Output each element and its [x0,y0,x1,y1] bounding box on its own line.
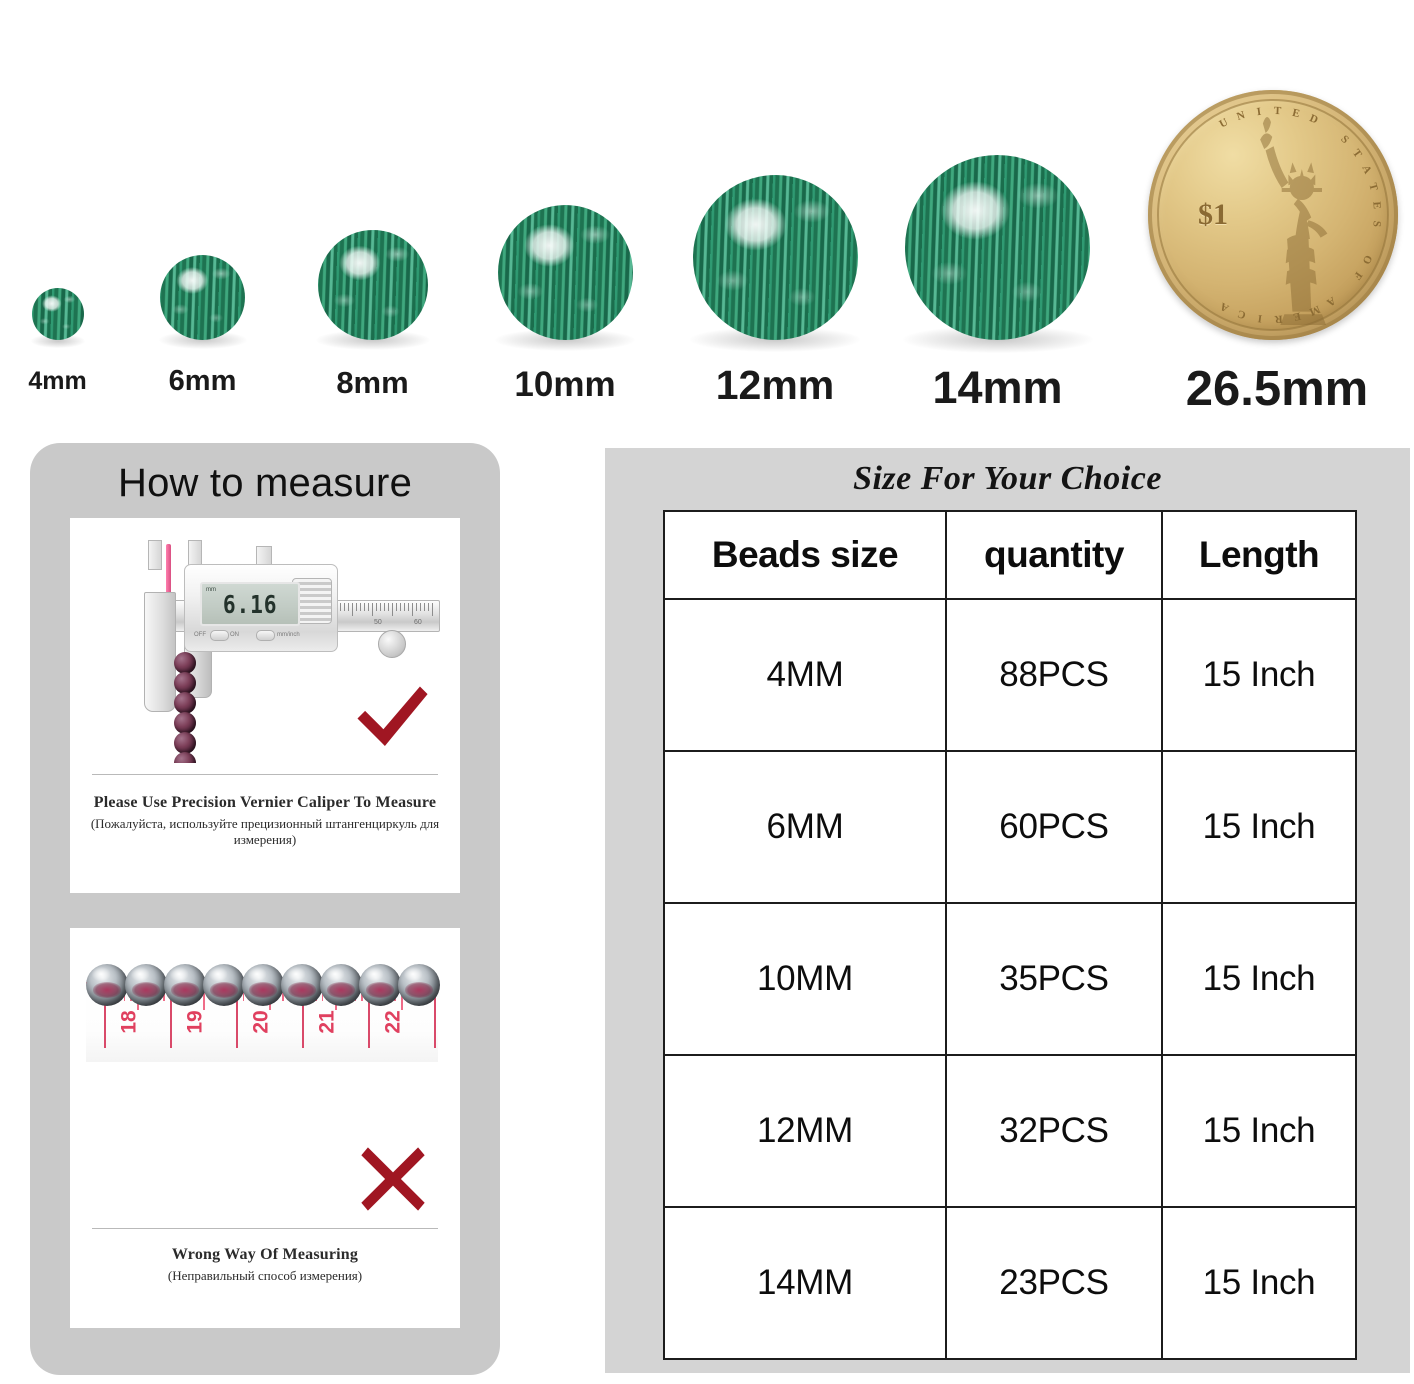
size-cell: 10MM [664,903,946,1055]
size-table-body: 4MM88PCS15 Inch6MM60PCS15 Inch10MM35PCS1… [664,599,1356,1359]
caliper-scale-tick [356,603,357,611]
malachite-bead [32,288,84,340]
malachite-bead [905,155,1090,340]
caliper-scale-tick [396,603,397,611]
bead-size-label: 6mm [169,367,237,396]
caliper-reading-value: 6.16 [223,590,278,619]
coin-sample-26-5mm: UNITEDSTATESOFAMERICA $1 [1148,90,1406,340]
table-row: 6MM60PCS15 Inch [664,751,1356,903]
cross-icon [360,1146,426,1212]
caliper-scale-tick [340,603,341,611]
tape-measure-photo: 1819202122 [70,928,460,1218]
caliper-scale-tick [352,603,353,616]
wrong-caption-ru: (Неправильный способ измерения) [70,1268,460,1284]
bead-size-label: 10mm [514,367,615,402]
measured-bead-strand [174,652,196,763]
caliper-zero-button[interactable] [256,630,275,641]
length-cell: 15 Inch [1162,1207,1356,1359]
garnet-bead [174,712,196,734]
caliper-scale-tick [428,603,429,611]
length-cell: 15 Inch [1162,751,1356,903]
caliper-scale-tick [364,603,365,611]
check-icon [352,685,430,749]
tape-measure-illustration: 1819202122 [86,946,446,1096]
table-row: 4MM88PCS15 Inch [664,599,1356,751]
tape-number: 21 [316,1010,340,1033]
caliper-upper-jaw-fixed [148,540,162,570]
caliper-scale-tick [424,603,425,611]
bead-size-label: 8mm [336,367,408,398]
caliper-scale-tick [412,603,413,616]
steel-bead [203,964,245,1006]
bead-sample-10mm: 10mm [485,205,645,340]
wrong-caption-en: Wrong Way Of Measuring [70,1246,460,1264]
tape-number: 19 [184,1010,208,1033]
table-row: 14MM23PCS15 Inch [664,1207,1356,1359]
size-cell: 4MM [664,599,946,751]
caliper-scale-tick [392,603,393,616]
bead-sample-12mm: 12mm [685,175,865,340]
bead-size-label: 14mm [932,365,1062,410]
bead-size-comparison-strip: 4mm 6mm 8mm 10mm 12mm 14mm UNITEDSTATESO… [0,0,1414,400]
malachite-bead [498,205,633,340]
bead-size-label: 4mm [28,369,86,394]
tape-number: 18 [118,1010,142,1033]
length-cell: 15 Inch [1162,599,1356,751]
size-table-title: Size For Your Choice [605,448,1410,498]
bead-sample-14mm: 14mm [900,155,1095,340]
caption-divider [92,1228,438,1229]
malachite-bead [318,230,428,340]
caliper-scale-number: 50 [374,619,382,626]
caliper-lock-screw [256,546,272,566]
correct-caption-ru: (Пожалуйста, используйте прецизионный шт… [70,816,460,848]
garnet-bead [174,732,196,754]
correct-caption: Please Use Precision Vernier Caliper To … [70,794,460,848]
caliper-fixed-jaw [144,592,176,712]
steel-bead [125,964,167,1006]
quantity-cell: 88PCS [946,599,1162,751]
statue-of-liberty-icon [1228,110,1373,325]
bead-size-label: 12mm [716,365,835,406]
correct-caption-en: Please Use Precision Vernier Caliper To … [70,794,460,812]
steel-bead [164,964,206,1006]
caliper-scale-tick [348,603,349,611]
caliper-scale-tick [380,603,381,611]
steel-bead [398,964,440,1006]
bead-sample-4mm: 4mm [5,288,110,340]
caliper-scale-tick [420,603,421,611]
caliper-scale-tick [400,603,401,611]
wrong-method-card: 1819202122 Wrong Way Of Measuring (Непра… [70,928,460,1328]
malachite-bead [693,175,858,340]
steel-bead [320,964,362,1006]
quantity-cell: 32PCS [946,1055,1162,1207]
quantity-cell: 60PCS [946,751,1162,903]
steel-bead [281,964,323,1006]
coin-size-label: 26.5mm [1186,365,1369,414]
table-row: 12MM32PCS15 Inch [664,1055,1356,1207]
caliper-unit-label: mm [206,587,216,593]
size-table-panel: Size For Your Choice Beads size quantity… [605,448,1410,1373]
caliper-photo: 05060 mm 6.16 OFF ON mm/inch [70,518,460,763]
us-dollar-coin: UNITEDSTATESOFAMERICA $1 [1148,90,1398,340]
caliper-thumb-wheel[interactable] [378,630,406,658]
caliper-lcd-display: mm 6.16 [200,582,300,626]
column-header-quantity: quantity [946,511,1162,599]
tape-number: 20 [250,1010,274,1033]
how-to-measure-panel: How to measure 05060 mm 6.16 [30,443,500,1375]
table-row: 10MM35PCS15 Inch [664,903,1356,1055]
quantity-cell: 35PCS [946,903,1162,1055]
table-header-row: Beads size quantity Length [664,511,1356,599]
tape-number: 22 [382,1010,406,1033]
caliper-scale-tick [388,603,389,611]
garnet-bead [174,692,196,714]
caliper-scale-tick [404,603,405,611]
malachite-bead [160,255,245,340]
caliper-scale-tick [376,603,377,611]
bead-sample-8mm: 8mm [305,230,440,340]
steel-bead [86,964,128,1006]
correct-method-card: 05060 mm 6.16 OFF ON mm/inch [70,518,460,893]
steel-bead [242,964,284,1006]
caliper-scale-tick [372,603,373,616]
length-cell: 15 Inch [1162,1055,1356,1207]
coin-denomination: $1 [1198,198,1228,232]
caliper-unit-toggle-label: mm/inch [277,632,300,638]
bead-sample-6mm: 6mm [140,255,265,340]
length-cell: 15 Inch [1162,903,1356,1055]
column-header-beads-size: Beads size [664,511,946,599]
caliper-off-button[interactable] [210,630,229,641]
caliper-scale-tick [360,603,361,611]
caliper-scale: 05060 [332,603,436,627]
caliper-scale-number: 60 [414,619,422,626]
caliper-scale-tick [384,603,385,611]
caliper-on-label: ON [230,632,239,638]
column-header-length: Length [1162,511,1356,599]
caliper-scale-tick [416,603,417,611]
size-cell: 14MM [664,1207,946,1359]
caliper-scale-tick [368,603,369,611]
steel-bead [359,964,401,1006]
size-cell: 12MM [664,1055,946,1207]
garnet-bead [174,752,196,763]
caliper-scale-tick [432,603,433,616]
size-cell: 6MM [664,751,946,903]
garnet-bead [174,672,196,694]
quantity-cell: 23PCS [946,1207,1162,1359]
caption-divider [92,774,438,775]
caliper-scale-tick [344,603,345,611]
garnet-bead [174,652,196,674]
size-table: Beads size quantity Length 4MM88PCS15 In… [663,510,1357,1360]
wrong-caption: Wrong Way Of Measuring (Неправильный спо… [70,1246,460,1284]
caliper-scale-tick [408,603,409,611]
caliper-off-label: OFF [194,632,206,638]
how-to-measure-title: How to measure [30,443,500,506]
